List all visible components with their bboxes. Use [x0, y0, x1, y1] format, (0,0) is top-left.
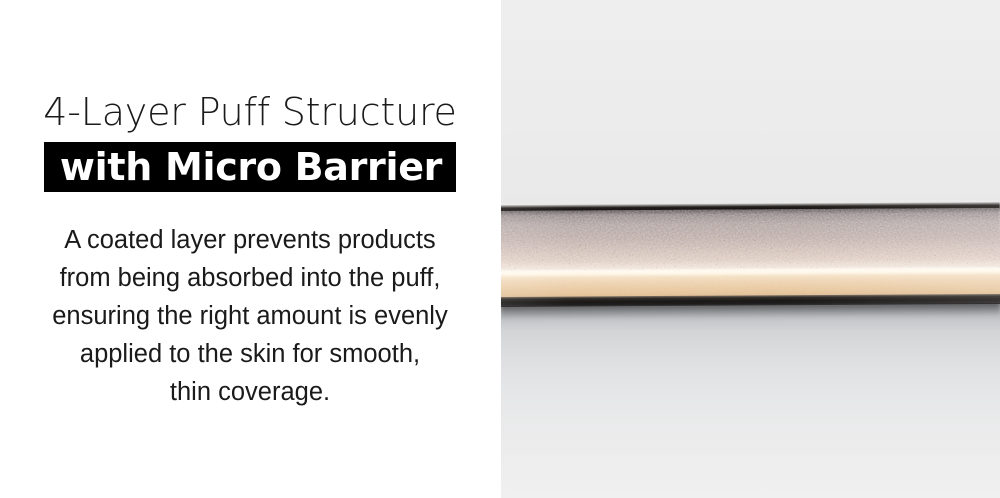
headline-block: 4-Layer Puff Structure with Micro Barrie…: [0, 88, 500, 192]
puff-drop-shadow: [500, 301, 1000, 320]
headline-line-1: 4-Layer Puff Structure: [0, 88, 500, 136]
body-copy-line: A coated layer prevents products: [18, 221, 482, 259]
puff-layer-coated-micro-barrier-surface: [500, 208, 1000, 273]
headline-line-2-highlighted: with Micro Barrier: [44, 142, 456, 192]
product-photo-panel: [500, 0, 1000, 498]
puff-slab: [500, 200, 1000, 306]
body-copy: A coated layer prevents products from be…: [0, 221, 500, 411]
photo-background-lower-surface: [500, 300, 1000, 498]
promo-banner: 4-Layer Puff Structure with Micro Barrie…: [0, 0, 1000, 498]
body-copy-line: thin coverage.: [18, 373, 482, 411]
body-copy-line: ensuring the right amount is evenly: [18, 297, 482, 335]
puff-cross-section: [500, 203, 1000, 306]
body-copy-line: applied to the skin for smooth,: [18, 335, 482, 373]
text-panel: 4-Layer Puff Structure with Micro Barrie…: [0, 0, 500, 498]
body-copy-line: from being absorbed into the puff,: [18, 259, 482, 297]
speckle-texture-light: [500, 208, 1000, 273]
headline-line-2-wrapper: with Micro Barrier: [0, 142, 500, 192]
panel-divider: [494, 0, 501, 498]
photo-background-upper: [500, 0, 1000, 206]
